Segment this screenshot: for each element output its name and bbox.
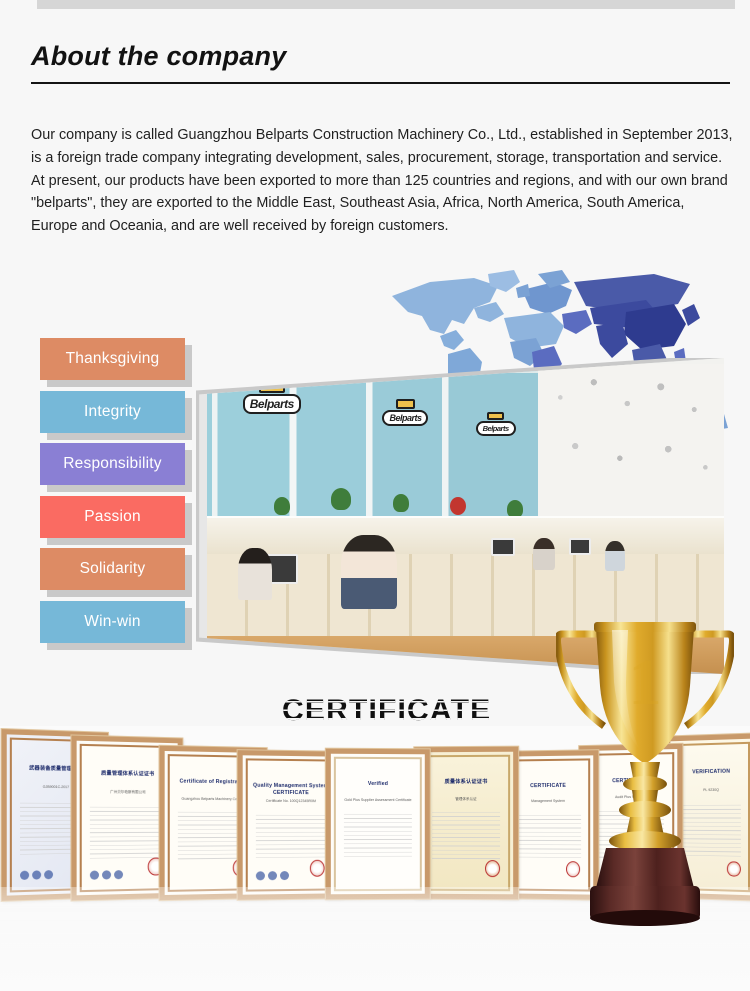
- value-item[interactable]: Responsibility: [40, 443, 200, 485]
- trophy-handle-right: [686, 634, 733, 726]
- certificate-body-lines: [432, 812, 501, 860]
- value-chip-thanksgiving[interactable]: Thanksgiving: [40, 338, 185, 380]
- trophy-graphic: 1: [556, 612, 734, 932]
- trophy-stem-knob: [623, 776, 667, 792]
- excavator-icon: [487, 412, 504, 420]
- certificate-subtitle: Gold Plus Supplier Assessment Certificat…: [343, 798, 414, 804]
- value-chip-integrity[interactable]: Integrity: [40, 391, 185, 433]
- desk-flowers: [450, 497, 466, 515]
- certificate-body-lines: [90, 806, 165, 858]
- value-item[interactable]: Thanksgiving: [40, 338, 200, 380]
- certificate-title: Verified: [336, 781, 420, 788]
- certificate-subtitle: 广州贝尔帕斯有限公司: [89, 789, 166, 795]
- about-paragraph: Our company is called Guangzhou Belparts…: [31, 124, 733, 237]
- map-region-china: [624, 304, 686, 350]
- certificate-title: 质量体系认证证书: [424, 779, 508, 786]
- excavator-icon: [396, 399, 416, 409]
- map-region-middle-east: [562, 310, 592, 334]
- value-item[interactable]: Solidarity: [40, 548, 200, 590]
- office-worker: [605, 541, 625, 571]
- trophy-base-foot: [590, 910, 700, 926]
- office-worker: [533, 538, 555, 570]
- certificate-item[interactable]: 质量体系认证证书 管理体系认证: [414, 747, 518, 900]
- page-title: About the company: [31, 42, 731, 72]
- trophy-stem-knob-2: [619, 801, 671, 819]
- company-values-list: Thanksgiving Integrity Responsibility Pa…: [40, 338, 200, 653]
- certificate-badges: [90, 870, 123, 880]
- certificate-seal: [485, 860, 500, 877]
- value-chip-win-win[interactable]: Win-win: [40, 601, 185, 643]
- belparts-logo-text: Belparts: [476, 421, 516, 436]
- wall-picture-frames: [538, 364, 724, 516]
- certificate-paper: Quality Management System CERTIFICATE Ce…: [246, 758, 336, 891]
- top-partial-bar: [37, 0, 735, 9]
- certificate-body-lines: [343, 814, 412, 861]
- certificate-subtitle: 管理体系认证: [431, 797, 502, 803]
- certificate-title: Quality Management System CERTIFICATE: [248, 782, 334, 796]
- section-header: About the company: [31, 42, 731, 84]
- belparts-logo: Belparts: [476, 412, 516, 436]
- certificate-paper: 质量体系认证证书 管理体系认证: [422, 755, 510, 891]
- title-divider: [31, 82, 730, 84]
- trophy-rank-number: 1: [629, 646, 662, 719]
- map-region-india: [596, 322, 628, 358]
- office-worker-on-phone: [341, 535, 397, 609]
- certificate-seal: [310, 860, 325, 878]
- trophy-base-top: [596, 848, 694, 888]
- desk-plant: [331, 488, 351, 510]
- desk-plant: [274, 497, 290, 515]
- certificate-subtitle: Certificate No. 100Q12345R0M: [255, 799, 327, 805]
- certificate-item[interactable]: Verified Gold Plus Supplier Assessment C…: [326, 749, 430, 900]
- certificate-paper: Verified Gold Plus Supplier Assessment C…: [334, 757, 422, 891]
- certificate-heading: CERTIFICATE: [282, 694, 491, 728]
- map-region-uk: [516, 284, 530, 298]
- belparts-logo-text: Belparts: [382, 410, 428, 426]
- trophy-stem: [630, 762, 660, 778]
- office-worker: [238, 548, 272, 600]
- window-blinds: [207, 358, 538, 522]
- value-chip-passion[interactable]: Passion: [40, 496, 185, 538]
- computer-monitor: [491, 538, 515, 556]
- value-item[interactable]: Passion: [40, 496, 200, 538]
- certificate-badges: [20, 870, 53, 880]
- certificate-body-lines: [256, 815, 326, 861]
- belparts-logo: Belparts: [382, 399, 428, 426]
- desk-plant: [393, 494, 409, 512]
- map-region-europe: [522, 282, 572, 314]
- trophy-rim: [594, 622, 696, 632]
- computer-monitor: [569, 538, 591, 555]
- certificate-badges: [256, 871, 289, 880]
- belparts-logo-text: Belparts: [243, 394, 301, 414]
- value-item[interactable]: Win-win: [40, 601, 200, 643]
- value-chip-responsibility[interactable]: Responsibility: [40, 443, 185, 485]
- value-chip-solidarity[interactable]: Solidarity: [40, 548, 185, 590]
- trophy-handle-left: [558, 634, 605, 726]
- value-item[interactable]: Integrity: [40, 391, 200, 433]
